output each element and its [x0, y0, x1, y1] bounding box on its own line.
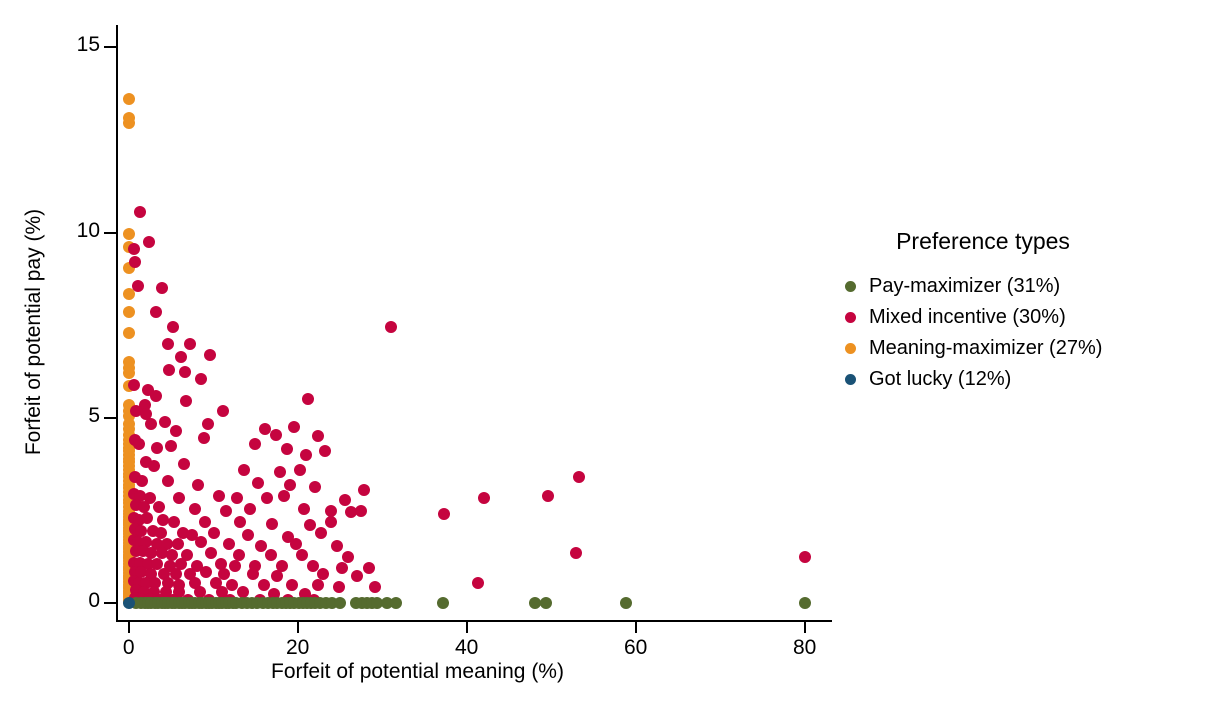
x-ticklabel-40: 40	[427, 636, 507, 660]
data-point	[342, 551, 354, 563]
data-point	[166, 597, 178, 609]
data-point	[334, 597, 346, 609]
data-point	[191, 560, 203, 572]
data-point	[123, 511, 135, 523]
y-ticklabel-10: 10	[0, 219, 100, 243]
data-point	[142, 384, 154, 396]
data-point	[175, 351, 187, 363]
data-point	[369, 581, 381, 593]
data-point	[150, 390, 162, 402]
data-point	[154, 594, 166, 606]
data-point	[123, 537, 135, 549]
legend-entry-1[interactable]: Mixed incentive (30%)	[833, 302, 1205, 333]
data-point	[156, 282, 168, 294]
data-point	[123, 93, 135, 105]
legend: Preference types Pay-maximizer (31%)Mixe…	[833, 228, 1205, 395]
data-point	[167, 594, 179, 606]
data-point	[123, 449, 135, 461]
data-point	[241, 597, 253, 609]
data-point	[176, 597, 188, 609]
data-point	[123, 306, 135, 318]
x-tick-60	[635, 621, 637, 633]
data-point	[147, 525, 159, 537]
data-point	[363, 562, 375, 574]
data-point	[307, 560, 319, 572]
data-point	[123, 442, 135, 454]
legend-title: Preference types	[833, 228, 1133, 255]
data-point	[145, 568, 157, 580]
data-point	[123, 570, 135, 582]
data-point	[166, 549, 178, 561]
data-point	[203, 597, 215, 609]
data-point	[177, 527, 189, 539]
data-point	[164, 560, 176, 572]
data-point	[123, 561, 135, 573]
scatter-plot-figure: Forfeit of potential pay (%) Forfeit of …	[0, 0, 1205, 723]
data-point	[123, 546, 135, 558]
data-point	[281, 443, 293, 455]
data-point	[210, 597, 222, 609]
data-point	[151, 558, 163, 570]
data-point	[333, 581, 345, 593]
data-point	[366, 597, 378, 609]
data-point	[148, 460, 160, 472]
data-point	[144, 593, 156, 605]
data-point	[198, 432, 210, 444]
data-point	[288, 421, 300, 433]
data-point	[216, 586, 228, 598]
data-point	[542, 490, 554, 502]
data-point	[216, 597, 228, 609]
data-point	[218, 568, 230, 580]
data-point	[271, 570, 283, 582]
y-axis-line	[116, 25, 118, 621]
data-point	[123, 519, 135, 531]
data-point	[123, 534, 135, 546]
data-point	[339, 494, 351, 506]
data-point	[210, 577, 222, 589]
data-point	[139, 597, 151, 609]
y-ticklabel-15: 15	[0, 33, 100, 57]
data-point	[129, 592, 141, 604]
data-point	[123, 241, 135, 253]
data-point	[129, 434, 141, 446]
data-point	[162, 338, 174, 350]
data-point	[123, 501, 135, 513]
data-point	[200, 597, 212, 609]
data-point	[247, 568, 259, 580]
data-point	[215, 558, 227, 570]
data-point	[220, 505, 232, 517]
data-point	[172, 538, 184, 550]
data-point	[123, 471, 135, 483]
data-point	[151, 538, 163, 550]
data-point	[204, 349, 216, 361]
data-point	[123, 410, 135, 422]
data-point	[128, 534, 140, 546]
data-point	[162, 577, 174, 589]
data-point	[123, 586, 135, 598]
data-point	[570, 547, 582, 559]
data-point	[270, 429, 282, 441]
data-point	[297, 597, 309, 609]
data-point	[123, 564, 135, 576]
data-point	[170, 568, 182, 580]
data-point	[438, 508, 450, 520]
data-point	[123, 479, 135, 491]
data-point	[540, 597, 552, 609]
data-point	[150, 306, 162, 318]
data-point	[213, 597, 225, 609]
data-point	[381, 597, 393, 609]
data-point	[123, 567, 135, 579]
data-point	[305, 597, 317, 609]
x-axis-line	[116, 620, 832, 622]
data-point	[123, 429, 135, 441]
data-point	[282, 531, 294, 543]
legend-entry-3[interactable]: Got lucky (12%)	[833, 364, 1205, 395]
data-point	[128, 512, 140, 524]
data-point	[220, 597, 232, 609]
data-point	[478, 492, 490, 504]
data-point	[193, 597, 205, 609]
y-tick-10	[104, 232, 116, 234]
data-point	[184, 568, 196, 580]
data-point	[529, 597, 541, 609]
data-point	[133, 514, 145, 526]
data-point	[123, 595, 135, 607]
data-point	[286, 579, 298, 591]
data-point	[175, 558, 187, 570]
data-point	[123, 367, 135, 379]
data-point	[206, 597, 218, 609]
data-point	[123, 585, 135, 597]
data-point	[205, 547, 217, 559]
data-point	[123, 522, 135, 534]
data-point	[123, 464, 135, 476]
data-point	[123, 117, 135, 129]
data-point	[123, 581, 135, 593]
data-point	[123, 505, 135, 517]
data-point	[361, 597, 373, 609]
legend-label: Got lucky (12%)	[869, 368, 1011, 391]
x-axis-title: Forfeit of potential meaning (%)	[0, 660, 835, 684]
data-point	[202, 418, 214, 430]
data-point	[129, 523, 141, 535]
data-point	[259, 423, 271, 435]
data-point	[252, 477, 264, 489]
data-point	[181, 549, 193, 561]
data-point	[123, 262, 135, 274]
data-point	[226, 579, 238, 591]
data-point	[255, 540, 267, 552]
data-point	[233, 549, 245, 561]
data-point	[130, 597, 142, 609]
data-point	[249, 560, 261, 572]
data-point	[186, 597, 198, 609]
data-point	[158, 568, 170, 580]
data-point	[437, 597, 449, 609]
data-point	[189, 577, 201, 589]
data-point	[128, 379, 140, 391]
data-point	[254, 594, 266, 606]
data-point	[161, 538, 173, 550]
data-point	[251, 597, 263, 609]
data-point	[123, 518, 135, 530]
data-point	[123, 362, 135, 374]
data-point	[123, 555, 135, 567]
data-point	[319, 445, 331, 457]
data-point	[145, 597, 157, 609]
data-point	[135, 597, 147, 609]
data-point	[199, 516, 211, 528]
data-point	[123, 571, 135, 583]
data-point	[213, 490, 225, 502]
data-point	[132, 536, 144, 548]
data-point	[294, 464, 306, 476]
data-point	[179, 597, 191, 609]
y-tick-15	[104, 46, 116, 48]
legend-marker-icon	[845, 343, 856, 354]
data-point	[299, 588, 311, 600]
data-point	[137, 545, 149, 557]
data-point	[278, 490, 290, 502]
data-point	[385, 321, 397, 333]
data-point	[149, 597, 161, 609]
data-point	[152, 597, 164, 609]
data-point	[145, 547, 157, 559]
data-point	[123, 514, 135, 526]
data-point	[123, 562, 135, 574]
data-point	[230, 597, 242, 609]
data-point	[238, 464, 250, 476]
legend-entry-2[interactable]: Meaning-maximizer (27%)	[833, 333, 1205, 364]
data-point	[301, 597, 313, 609]
data-point	[173, 586, 185, 598]
data-point	[304, 519, 316, 531]
data-point	[123, 579, 135, 591]
data-point	[183, 597, 195, 609]
data-point	[192, 479, 204, 491]
data-point	[135, 566, 147, 578]
data-point	[123, 475, 135, 487]
data-point	[217, 405, 229, 417]
data-point	[189, 597, 201, 609]
y-tick-0	[104, 602, 116, 604]
data-point	[123, 508, 135, 520]
data-point	[129, 566, 141, 578]
legend-label: Pay-maximizer (31%)	[869, 275, 1060, 298]
data-point	[135, 593, 147, 605]
data-point	[123, 356, 135, 368]
data-point	[223, 597, 235, 609]
data-point	[274, 466, 286, 478]
data-point	[143, 236, 155, 248]
data-point	[234, 516, 246, 528]
data-point	[261, 492, 273, 504]
data-point	[180, 395, 192, 407]
data-point	[325, 505, 337, 517]
data-point	[123, 434, 135, 446]
data-point	[298, 503, 310, 515]
data-point	[266, 518, 278, 530]
data-point	[128, 488, 140, 500]
data-point	[358, 484, 370, 496]
data-point	[312, 579, 324, 591]
data-point	[157, 514, 169, 526]
data-point	[123, 597, 135, 609]
data-point	[149, 577, 161, 589]
data-point	[123, 460, 135, 472]
data-point	[163, 364, 175, 376]
y-ticklabel-5: 5	[0, 404, 100, 428]
data-point	[148, 586, 160, 598]
data-point	[123, 423, 135, 435]
data-point	[573, 471, 585, 483]
data-point	[309, 597, 321, 609]
data-point	[144, 492, 156, 504]
data-point	[123, 517, 135, 529]
data-point	[184, 338, 196, 350]
data-point	[123, 543, 135, 555]
data-point	[325, 516, 337, 528]
x-ticklabel-20: 20	[258, 636, 338, 660]
data-point	[128, 575, 140, 587]
data-point	[799, 551, 811, 563]
data-point	[331, 540, 343, 552]
x-ticklabel-0: 0	[89, 636, 169, 660]
x-tick-0	[128, 621, 130, 633]
legend-entries: Pay-maximizer (31%)Mixed incentive (30%)…	[833, 271, 1205, 395]
data-point	[350, 597, 362, 609]
data-point	[182, 594, 194, 606]
data-point	[123, 468, 135, 480]
data-point	[123, 380, 135, 392]
data-point	[167, 321, 179, 333]
data-point	[123, 445, 135, 457]
data-point	[314, 597, 326, 609]
data-point	[203, 594, 215, 606]
data-point	[123, 497, 135, 509]
data-point	[267, 597, 279, 609]
data-point	[288, 597, 300, 609]
data-point	[140, 408, 152, 420]
data-point	[130, 545, 142, 557]
data-point	[123, 288, 135, 300]
data-point	[326, 597, 338, 609]
data-point	[227, 597, 239, 609]
data-point	[123, 453, 135, 465]
data-point	[123, 525, 135, 537]
data-point	[139, 399, 151, 411]
data-point	[249, 438, 261, 450]
data-point	[123, 490, 135, 502]
data-point	[123, 399, 135, 411]
data-point	[123, 542, 135, 554]
data-point	[153, 501, 165, 513]
data-point	[224, 594, 236, 606]
data-point	[262, 597, 274, 609]
data-point	[242, 529, 254, 541]
data-point	[268, 588, 280, 600]
data-point	[123, 582, 135, 594]
data-point	[195, 536, 207, 548]
data-point	[123, 591, 135, 603]
data-point	[123, 112, 135, 124]
data-point	[142, 597, 154, 609]
data-point	[271, 597, 283, 609]
data-point	[123, 588, 135, 600]
data-point	[317, 568, 329, 580]
data-point	[134, 206, 146, 218]
data-point	[302, 393, 314, 405]
data-point	[123, 549, 135, 561]
data-point	[284, 479, 296, 491]
data-point	[200, 566, 212, 578]
data-point	[123, 573, 135, 585]
data-point	[140, 456, 152, 468]
y-ticklabel-0: 0	[0, 589, 100, 613]
data-point	[160, 586, 172, 598]
data-point	[141, 512, 153, 524]
data-point	[123, 551, 135, 563]
data-point	[312, 430, 324, 442]
data-point	[123, 228, 135, 240]
data-point	[290, 538, 302, 550]
data-point	[133, 438, 145, 450]
data-point	[123, 558, 135, 570]
data-point	[168, 516, 180, 528]
data-point	[208, 527, 220, 539]
data-point	[336, 562, 348, 574]
data-point	[129, 471, 141, 483]
data-point	[276, 560, 288, 572]
data-point	[280, 597, 292, 609]
data-point	[132, 280, 144, 292]
data-point	[123, 418, 135, 430]
data-point	[140, 577, 152, 589]
data-point	[173, 492, 185, 504]
data-point	[195, 373, 207, 385]
data-point	[237, 586, 249, 598]
x-tick-20	[297, 621, 299, 633]
data-point	[189, 503, 201, 515]
data-point	[128, 243, 140, 255]
data-point	[129, 256, 141, 268]
y-tick-5	[104, 417, 116, 419]
data-point	[284, 597, 296, 609]
data-point	[138, 501, 150, 513]
data-point	[257, 597, 269, 609]
data-point	[135, 525, 147, 537]
data-point	[170, 425, 182, 437]
data-point	[276, 597, 288, 609]
data-point	[128, 557, 140, 569]
data-point	[246, 597, 258, 609]
data-point	[156, 597, 168, 609]
data-point	[173, 579, 185, 591]
data-point	[123, 494, 135, 506]
data-point	[155, 527, 167, 539]
data-point	[123, 590, 135, 602]
data-point	[236, 597, 248, 609]
data-point	[351, 570, 363, 582]
data-point	[134, 557, 146, 569]
data-point	[315, 527, 327, 539]
legend-entry-0[interactable]: Pay-maximizer (31%)	[833, 271, 1205, 302]
x-tick-80	[804, 621, 806, 633]
data-point	[162, 597, 174, 609]
